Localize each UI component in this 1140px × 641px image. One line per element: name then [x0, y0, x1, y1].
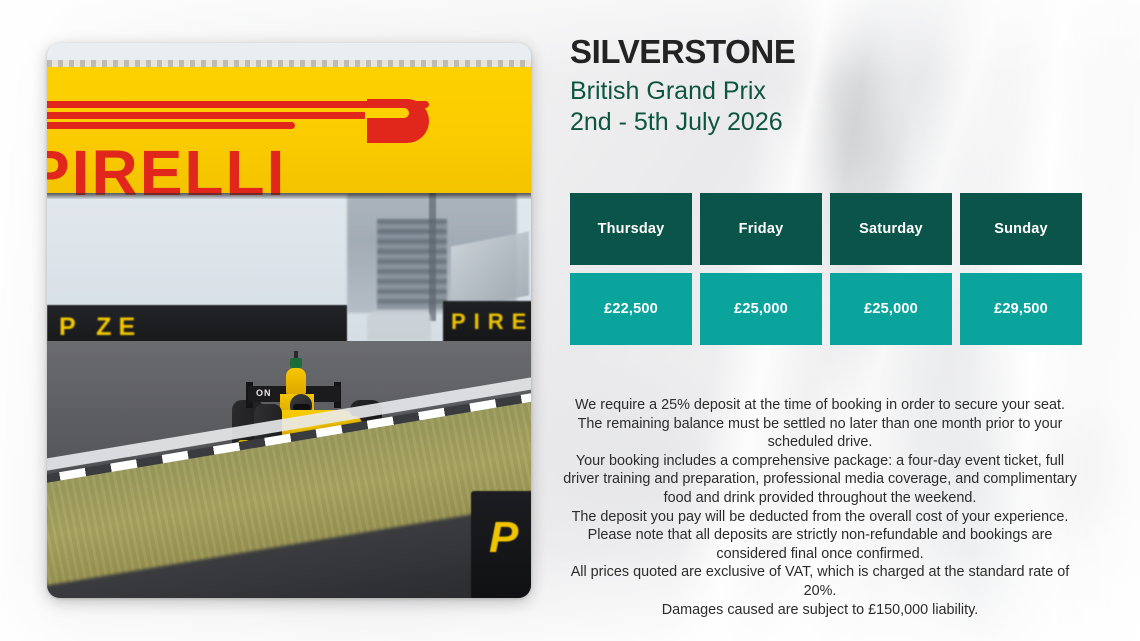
photo-silo — [367, 311, 431, 341]
event-name: British Grand Prix — [570, 76, 766, 107]
table-header-friday: Friday — [700, 193, 822, 265]
table-price-friday: £25,000 — [700, 273, 822, 345]
terms-paragraph-package: Your booking includes a comprehensive pa… — [562, 452, 1078, 508]
terms-paragraph-deposit: We require a 25% deposit at the time of … — [562, 396, 1078, 452]
pricing-table: Thursday Friday Saturday Sunday £22,500 … — [570, 193, 1082, 345]
photo-barrier-text-left: P ZE — [59, 313, 142, 342]
photo-grandstand-lattice — [377, 219, 447, 309]
photo-marshal-board — [471, 491, 531, 598]
details-column: SILVERSTONE British Grand Prix 2nd - 5th… — [562, 0, 1078, 641]
table-price-saturday: £25,000 — [830, 273, 952, 345]
photo-gantry-shadow — [47, 193, 531, 199]
event-photo-card: P ZE PIRE PIRELLI ON — [47, 43, 531, 598]
photo-light-pole — [429, 191, 436, 321]
table-price-thursday: £22,500 — [570, 273, 692, 345]
table-header-sunday: Sunday — [960, 193, 1082, 265]
page-title: SILVERSTONE — [570, 33, 795, 71]
photo-barrier-text-right: PIRE — [451, 309, 531, 335]
terms-and-conditions: We require a 25% deposit at the time of … — [562, 396, 1078, 619]
table-price-sunday: £29,500 — [960, 273, 1082, 345]
event-dates: 2nd - 5th July 2026 — [570, 107, 783, 138]
table-header-thursday: Thursday — [570, 193, 692, 265]
photo-pirelli-banner: PIRELLI — [47, 67, 531, 193]
terms-paragraph-refund: The deposit you pay will be deducted fro… — [562, 508, 1078, 564]
terms-paragraph-vat: All prices quoted are exclusive of VAT, … — [562, 563, 1078, 600]
table-header-saturday: Saturday — [830, 193, 952, 265]
pirelli-swoosh-icon — [47, 101, 437, 141]
terms-paragraph-damages: Damages caused are subject to £150,000 l… — [562, 601, 1078, 620]
